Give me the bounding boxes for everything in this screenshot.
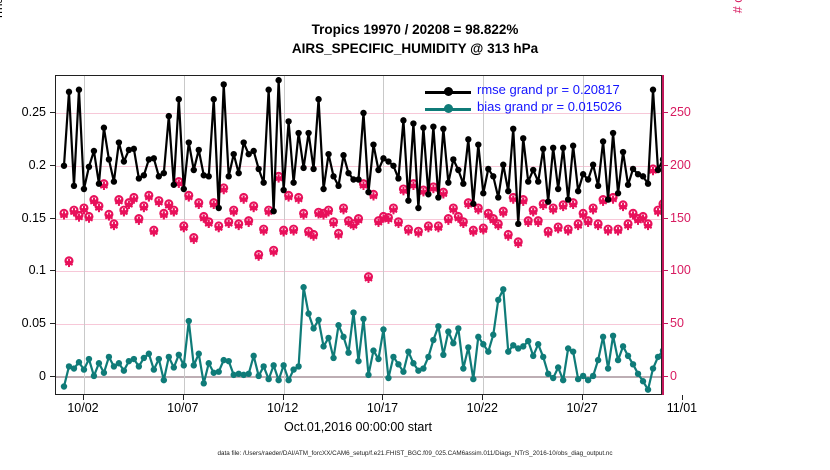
series-point <box>575 188 581 194</box>
series-point <box>181 186 187 192</box>
series-point <box>280 362 286 368</box>
series-point <box>71 365 77 371</box>
series-point <box>216 369 222 375</box>
series-point <box>340 152 346 158</box>
series-point <box>425 354 431 360</box>
series-point <box>176 352 182 358</box>
y-tick-label-left: 0.15 <box>0 211 46 225</box>
series-point <box>260 363 266 369</box>
series-line <box>64 287 661 389</box>
legend-item-rmse[interactable]: rmse grand pr = 0.20817 <box>425 83 660 100</box>
chart-title-line2: AIRS_SPECIFIC_HUMIDITY @ 313 hPa <box>0 41 830 56</box>
series-point <box>295 130 301 136</box>
series-point <box>585 377 591 383</box>
series-point <box>560 145 566 151</box>
y-tick-mark-left <box>50 112 55 113</box>
series-point <box>320 186 326 192</box>
series-point <box>375 167 381 173</box>
y-tick-label-right: 100 <box>670 263 716 277</box>
series-point <box>310 325 316 331</box>
series-point <box>415 205 421 211</box>
series-point <box>435 323 441 329</box>
series-point <box>520 343 526 349</box>
series-point <box>540 146 546 152</box>
series-point <box>146 351 152 357</box>
series-point <box>166 113 172 119</box>
series-point <box>81 366 87 372</box>
series-point <box>171 182 177 188</box>
series-point <box>385 375 391 381</box>
series-point <box>355 176 361 182</box>
y-tick-label-right: 0 <box>670 369 716 383</box>
chart-title-line1: Tropics 19970 / 20208 = 98.822% <box>0 22 830 37</box>
series-point <box>405 197 411 203</box>
series-point <box>265 376 271 382</box>
y-axis-label-right: # of obs: o=possible; ✳=evaluated <box>730 0 745 78</box>
series-point <box>275 77 281 83</box>
series-point <box>186 318 192 324</box>
series-point <box>330 173 336 179</box>
series-point <box>555 186 561 192</box>
series-point <box>420 365 426 371</box>
series-point <box>480 341 486 347</box>
series-point <box>505 348 511 354</box>
series-point <box>620 343 626 349</box>
series-point <box>385 158 391 164</box>
series-point <box>590 373 596 379</box>
series-point <box>330 355 336 361</box>
series-point <box>595 357 601 363</box>
series-point <box>390 163 396 169</box>
y-tick-label-left: 0.05 <box>0 316 46 330</box>
series-point <box>495 297 501 303</box>
series-point <box>111 178 117 184</box>
series-point <box>600 138 606 144</box>
series-point <box>91 148 97 154</box>
series-point <box>640 378 646 384</box>
series-point <box>96 181 102 187</box>
series-point <box>201 380 207 386</box>
series-point <box>410 360 416 366</box>
series-point <box>250 353 256 359</box>
x-tick-label: 10/27 <box>547 401 617 415</box>
series-point <box>525 338 531 344</box>
x-tick-mark <box>83 395 84 400</box>
series-point <box>465 136 471 142</box>
series-point <box>405 348 411 354</box>
series-point <box>475 334 481 340</box>
x-tick-mark <box>582 395 583 400</box>
series-point <box>400 117 406 123</box>
series-point <box>540 354 546 360</box>
series-point <box>66 89 72 95</box>
series-point <box>166 354 172 360</box>
series-point <box>156 356 162 362</box>
series-point <box>455 325 461 331</box>
series-point <box>610 130 616 136</box>
series-point <box>490 173 496 179</box>
series-point <box>101 370 107 376</box>
series-point <box>430 123 436 129</box>
series-point <box>81 186 87 192</box>
series-point <box>121 367 127 373</box>
series-point <box>300 284 306 290</box>
series-point <box>500 286 506 292</box>
series-point <box>630 361 636 367</box>
series-point <box>495 194 501 200</box>
series-point <box>570 143 576 149</box>
series-point <box>285 118 291 124</box>
y-tick-mark-right <box>663 112 668 113</box>
series-point <box>560 377 566 383</box>
series-point <box>71 183 77 189</box>
series-point <box>151 155 157 161</box>
series-point <box>395 361 401 367</box>
series-point <box>151 366 157 372</box>
series-point <box>91 373 97 379</box>
series-point <box>530 167 536 173</box>
y-tick-mark-right <box>663 376 668 377</box>
series-point <box>635 371 641 377</box>
series-point <box>61 383 67 389</box>
series-point <box>380 326 386 332</box>
series-point <box>645 181 651 187</box>
x-tick-mark <box>382 395 383 400</box>
y-tick-label-left: 0.25 <box>0 105 46 119</box>
series-point <box>96 360 102 366</box>
y-tick-mark-right <box>663 165 668 166</box>
series-point <box>216 205 222 211</box>
legend-label-rmse: rmse grand pr = 0.20817 <box>477 82 620 97</box>
series-point <box>61 163 67 169</box>
series-point <box>550 145 556 151</box>
series-point <box>485 166 491 172</box>
series-point <box>535 178 541 184</box>
series-point <box>545 371 551 377</box>
y-tick-label-left: 0 <box>0 369 46 383</box>
series-point <box>131 146 137 152</box>
series-point <box>390 354 396 360</box>
series-point <box>335 322 341 328</box>
series-point <box>255 373 261 379</box>
series-point <box>161 377 167 383</box>
series-point <box>211 96 217 102</box>
series-point <box>315 317 321 323</box>
series-point <box>116 139 122 145</box>
series-point <box>101 125 107 131</box>
series-canvas <box>56 76 661 394</box>
series-point <box>640 173 646 179</box>
series-point <box>245 371 251 377</box>
series-point <box>580 171 586 177</box>
series-point <box>655 354 661 360</box>
series-point <box>106 354 112 360</box>
series-point <box>625 353 631 359</box>
series-point <box>161 170 167 176</box>
series-point <box>106 156 112 162</box>
series-point <box>475 141 481 147</box>
series-point <box>395 175 401 181</box>
series-point <box>265 87 271 93</box>
series-point <box>430 337 436 343</box>
series-point <box>585 176 591 182</box>
x-tick-mark <box>283 395 284 400</box>
series-point <box>450 340 456 346</box>
series-point <box>116 360 122 366</box>
y-tick-mark-left <box>50 218 55 219</box>
series-point <box>365 189 371 195</box>
series-point <box>305 130 311 136</box>
series-point <box>235 170 241 176</box>
x-tick-mark <box>682 395 683 400</box>
series-point <box>221 81 227 87</box>
series-point <box>86 164 92 170</box>
series-point <box>270 208 276 214</box>
series-point <box>345 349 351 355</box>
series-point <box>620 149 626 155</box>
series-point <box>76 359 82 365</box>
series-point <box>305 310 311 316</box>
series-point <box>605 365 611 371</box>
series-point <box>440 126 446 132</box>
x-tick-label: 10/07 <box>148 401 218 415</box>
series-point <box>255 166 261 172</box>
x-axis-label: Oct.01,2016 00:00:00 start <box>0 420 716 434</box>
series-point <box>226 358 232 364</box>
series-point <box>350 309 356 315</box>
series-point <box>425 191 431 197</box>
y-tick-label-right: 150 <box>670 211 716 225</box>
x-tick-mark <box>482 395 483 400</box>
series-point <box>500 162 506 168</box>
series-point <box>450 156 456 162</box>
series-point <box>191 362 197 368</box>
series-point <box>650 365 656 371</box>
series-point <box>510 126 516 132</box>
series-point <box>525 178 531 184</box>
series-point <box>196 351 202 357</box>
series-point <box>435 194 441 200</box>
series-point <box>485 348 491 354</box>
series-point <box>285 377 291 383</box>
series-point <box>600 334 606 340</box>
series-point <box>660 156 661 162</box>
series-point <box>86 356 92 362</box>
series-point <box>615 190 621 196</box>
series-point <box>141 355 147 361</box>
series-point <box>141 172 147 178</box>
series-point <box>505 188 511 194</box>
legend-marker-bias <box>444 104 453 113</box>
series-point <box>645 386 651 392</box>
series-point <box>206 173 212 179</box>
series-point <box>171 364 177 370</box>
series-point <box>520 135 526 141</box>
series-point <box>315 96 321 102</box>
series-point <box>420 125 426 131</box>
series-point <box>295 363 301 369</box>
series-point <box>630 166 636 172</box>
series-point <box>535 341 541 347</box>
series-point <box>231 151 237 157</box>
series-point <box>360 316 366 322</box>
series-point <box>610 333 616 339</box>
x-tick-label: 10/02 <box>48 401 118 415</box>
right-axis-spine <box>662 75 664 395</box>
series-point <box>460 181 466 187</box>
series-point <box>360 110 366 116</box>
series-point <box>655 167 661 173</box>
y-tick-mark-right <box>663 218 668 219</box>
series-point <box>470 376 476 382</box>
series-point <box>335 183 341 189</box>
series-point <box>555 364 561 370</box>
series-point <box>310 166 316 172</box>
series-point <box>275 377 281 383</box>
legend-label-bias: bias grand pr = 0.015026 <box>477 99 622 114</box>
series-point <box>460 365 466 371</box>
series-point <box>515 221 521 227</box>
y-tick-mark-left <box>50 270 55 271</box>
series-point <box>445 179 451 185</box>
y-tick-label-left: 0.2 <box>0 158 46 172</box>
series-point <box>340 334 346 340</box>
series-point <box>410 120 416 126</box>
series-point <box>176 96 182 102</box>
plot-area <box>55 75 662 395</box>
series-point <box>590 162 596 168</box>
series-point <box>270 362 276 368</box>
y-tick-label-right: 250 <box>670 105 716 119</box>
series-point <box>545 198 551 204</box>
y-tick-label-right: 50 <box>670 316 716 330</box>
x-tick-label: 11/01 <box>647 401 717 415</box>
series-point <box>375 356 381 362</box>
series-point <box>345 170 351 176</box>
series-point <box>290 179 296 185</box>
series-point <box>280 187 286 193</box>
x-tick-label: 10/17 <box>347 401 417 415</box>
y-tick-mark-left <box>50 165 55 166</box>
series-point <box>300 165 306 171</box>
series-point <box>465 344 471 350</box>
series-point <box>355 358 361 364</box>
chart-figure: Tropics 19970 / 20208 = 98.822% AIRS_SPE… <box>0 0 830 470</box>
series-point <box>186 139 192 145</box>
series-point <box>625 182 631 188</box>
y-tick-mark-left <box>50 376 55 377</box>
y-axis-label-left: rmse and bias (model - observation) <box>0 0 5 78</box>
y-tick-label-right: 200 <box>670 158 716 172</box>
y-tick-mark-right <box>663 323 668 324</box>
series-point <box>470 201 476 207</box>
series-point <box>131 356 137 362</box>
y-tick-mark-left <box>50 323 55 324</box>
x-tick-label: 10/12 <box>248 401 318 415</box>
series-point <box>490 332 496 338</box>
series-point <box>480 190 486 196</box>
series-point <box>250 148 256 154</box>
series-point <box>605 196 611 202</box>
x-tick-label: 10/22 <box>447 401 517 415</box>
series-point <box>136 363 142 369</box>
series-point <box>570 348 576 354</box>
series-point <box>226 173 232 179</box>
series-point <box>595 183 601 189</box>
y-tick-mark-right <box>663 270 668 271</box>
series-point <box>325 151 331 157</box>
series-point <box>181 362 187 368</box>
series-point <box>206 360 212 366</box>
series-point <box>76 87 82 93</box>
y-tick-label-left: 0.1 <box>0 263 46 277</box>
series-point <box>325 335 331 341</box>
series-point <box>440 352 446 358</box>
series-point <box>565 196 571 202</box>
series-point <box>445 328 451 334</box>
series-point <box>196 147 202 153</box>
legend-marker-rmse <box>444 87 453 96</box>
series-point <box>260 179 266 185</box>
series-point <box>320 343 326 349</box>
x-tick-mark <box>183 395 184 400</box>
series-point <box>240 139 246 145</box>
series-point <box>550 375 556 381</box>
series-point <box>580 373 586 379</box>
series-point <box>530 353 536 359</box>
series-point <box>370 141 376 147</box>
series-point <box>615 357 621 363</box>
data-file-footer: data file: /Users/raeder/DAI/ATM_forcXX/… <box>0 450 830 457</box>
series-point <box>370 347 376 353</box>
series-point <box>191 167 197 173</box>
chart-legend: rmse grand pr = 0.20817 bias grand pr = … <box>425 83 660 117</box>
legend-item-bias[interactable]: bias grand pr = 0.015026 <box>425 100 660 117</box>
series-point <box>400 369 406 375</box>
series-point <box>455 167 461 173</box>
series-point <box>365 372 371 378</box>
series-point <box>121 158 127 164</box>
